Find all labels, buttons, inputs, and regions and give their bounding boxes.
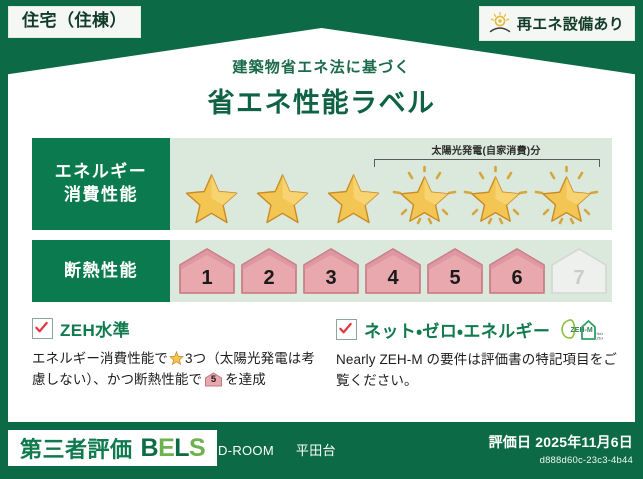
sun-icon (488, 11, 512, 35)
insulation-performance-row: 断熱性能 1 2 3 (32, 240, 612, 302)
note-zeh-body-post: を達成 (225, 372, 266, 387)
star-3 (318, 165, 389, 227)
insulation-row-value: 1 2 3 4 5 (170, 240, 612, 302)
energy-label-line1: エネルギー (55, 161, 148, 184)
insulation-level-2: 2 (238, 245, 300, 297)
building-type-label: 住宅（住棟） (22, 11, 127, 30)
note-nze-body: Nearly ZEH-M の要件は評価書の特記項目をご覧ください。 (336, 349, 624, 392)
title-subtitle: 建築物省エネ法に基づく (0, 56, 643, 77)
insulation-level-3: 3 (300, 245, 362, 297)
note-zeh-standard: ZEH水準 エネルギー消費性能で3つ（太陽光発電は考慮しない）、かつ断熱性能で5… (32, 316, 320, 412)
note-nze-header: ネット・ゼロ・エネルギー ZEH-M Nearly ZEH-M (336, 316, 624, 342)
star-1 (176, 165, 247, 227)
footer: 第三者評価 BELS D-ROOM 平田台 評価日 2025年11月6日 d88… (0, 426, 643, 479)
insulation-level-4: 4 (362, 245, 424, 297)
bels-en-label: BELS (141, 434, 206, 463)
insulation-level-7-number: 7 (548, 245, 610, 297)
footer-project-info: D-ROOM 平田台 (218, 440, 336, 459)
svg-text:ZEH-M: ZEH-M (597, 336, 604, 341)
checkbox-net-zero-energy (336, 319, 357, 340)
star-5-solar (460, 165, 531, 227)
energy-row-label: エネルギー 消費性能 (32, 138, 170, 230)
title-block: 建築物省エネ法に基づく 省エネ性能ラベル (0, 56, 643, 120)
energy-performance-row: エネルギー 消費性能 太陽光発電(自家消費)分 (32, 138, 612, 230)
insulation-level-3-number: 3 (300, 245, 362, 297)
insulation-level-6-number: 6 (486, 245, 548, 297)
notes-section: ZEH水準 エネルギー消費性能で3つ（太陽光発電は考慮しない）、かつ断熱性能で5… (32, 316, 624, 412)
evaluation-date-value: 2025年11月6日 (535, 434, 633, 450)
evaluation-date-label: 評価日 (489, 434, 532, 450)
note-zeh-header: ZEH水準 (32, 316, 320, 341)
note-net-zero-energy: ネット・ゼロ・エネルギー ZEH-M Nearly ZEH-M Nearly Z… (336, 316, 624, 412)
note-nze-title: ネット・ゼロ・エネルギー (364, 317, 550, 342)
star-6-solar (531, 165, 602, 227)
star-4-solar (389, 165, 460, 227)
body-panel: エネルギー 消費性能 太陽光発電(自家消費)分 (8, 130, 635, 422)
insulation-label-text: 断熱性能 (64, 260, 138, 283)
insulation-level-1-number: 1 (176, 245, 238, 297)
zeh-m-logo-icon: ZEH-M Nearly ZEH-M (557, 316, 603, 342)
insulation-level-5-number: 5 (424, 245, 486, 297)
inline-house-badge: 5 (204, 372, 223, 387)
energy-label-line2: 消費性能 (64, 184, 138, 207)
insulation-level-6: 6 (486, 245, 548, 297)
insulation-level-1: 1 (176, 245, 238, 297)
evaluation-id: d888d60c-23c3-4b44 (489, 455, 633, 466)
star-rating (170, 164, 612, 228)
renewable-badge-label: 再エネ設備あり (517, 13, 624, 34)
inline-star-icon (169, 350, 184, 364)
star-2 (247, 165, 318, 227)
insulation-level-7: 7 (548, 245, 610, 297)
insulation-level-scale: 1 2 3 4 5 (170, 240, 612, 302)
project-name: 平田台 (296, 443, 336, 458)
note-zeh-body-pre: エネルギー消費性能で (32, 351, 168, 366)
solar-bracket: 太陽光発電(自家消費)分 (372, 144, 600, 166)
inline-house-number: 5 (204, 372, 223, 387)
energy-row-value: 太陽光発電(自家消費)分 (170, 138, 612, 230)
bels-logo: 第三者評価 BELS (8, 430, 217, 466)
insulation-level-4-number: 4 (362, 245, 424, 297)
insulation-level-2-number: 2 (238, 245, 300, 297)
note-zeh-body: エネルギー消費性能で3つ（太陽光発電は考慮しない）、かつ断熱性能で5を達成 (32, 348, 320, 391)
renewable-equipment-badge: 再エネ設備あり (479, 6, 635, 41)
insulation-row-label: 断熱性能 (32, 240, 170, 302)
insulation-level-5: 5 (424, 245, 486, 297)
energy-performance-label: 住宅（住棟） 再エネ設備あり 建築物省エネ法に基づく 省エネ性能ラベル (0, 0, 643, 479)
checkbox-zeh-standard (32, 318, 53, 339)
project-code: D-ROOM (218, 443, 274, 458)
bels-jp-label: 第三者評価 (20, 432, 133, 464)
building-type-badge: 住宅（住棟） (8, 6, 141, 38)
footer-eval-info: 評価日 2025年11月6日 d888d60c-23c3-4b44 (489, 432, 633, 466)
title-main: 省エネ性能ラベル (0, 81, 643, 120)
note-zeh-title: ZEH水準 (60, 316, 130, 341)
solar-bracket-label: 太陽光発電(自家消費)分 (372, 142, 600, 157)
evaluation-date: 評価日 2025年11月6日 (489, 432, 633, 452)
